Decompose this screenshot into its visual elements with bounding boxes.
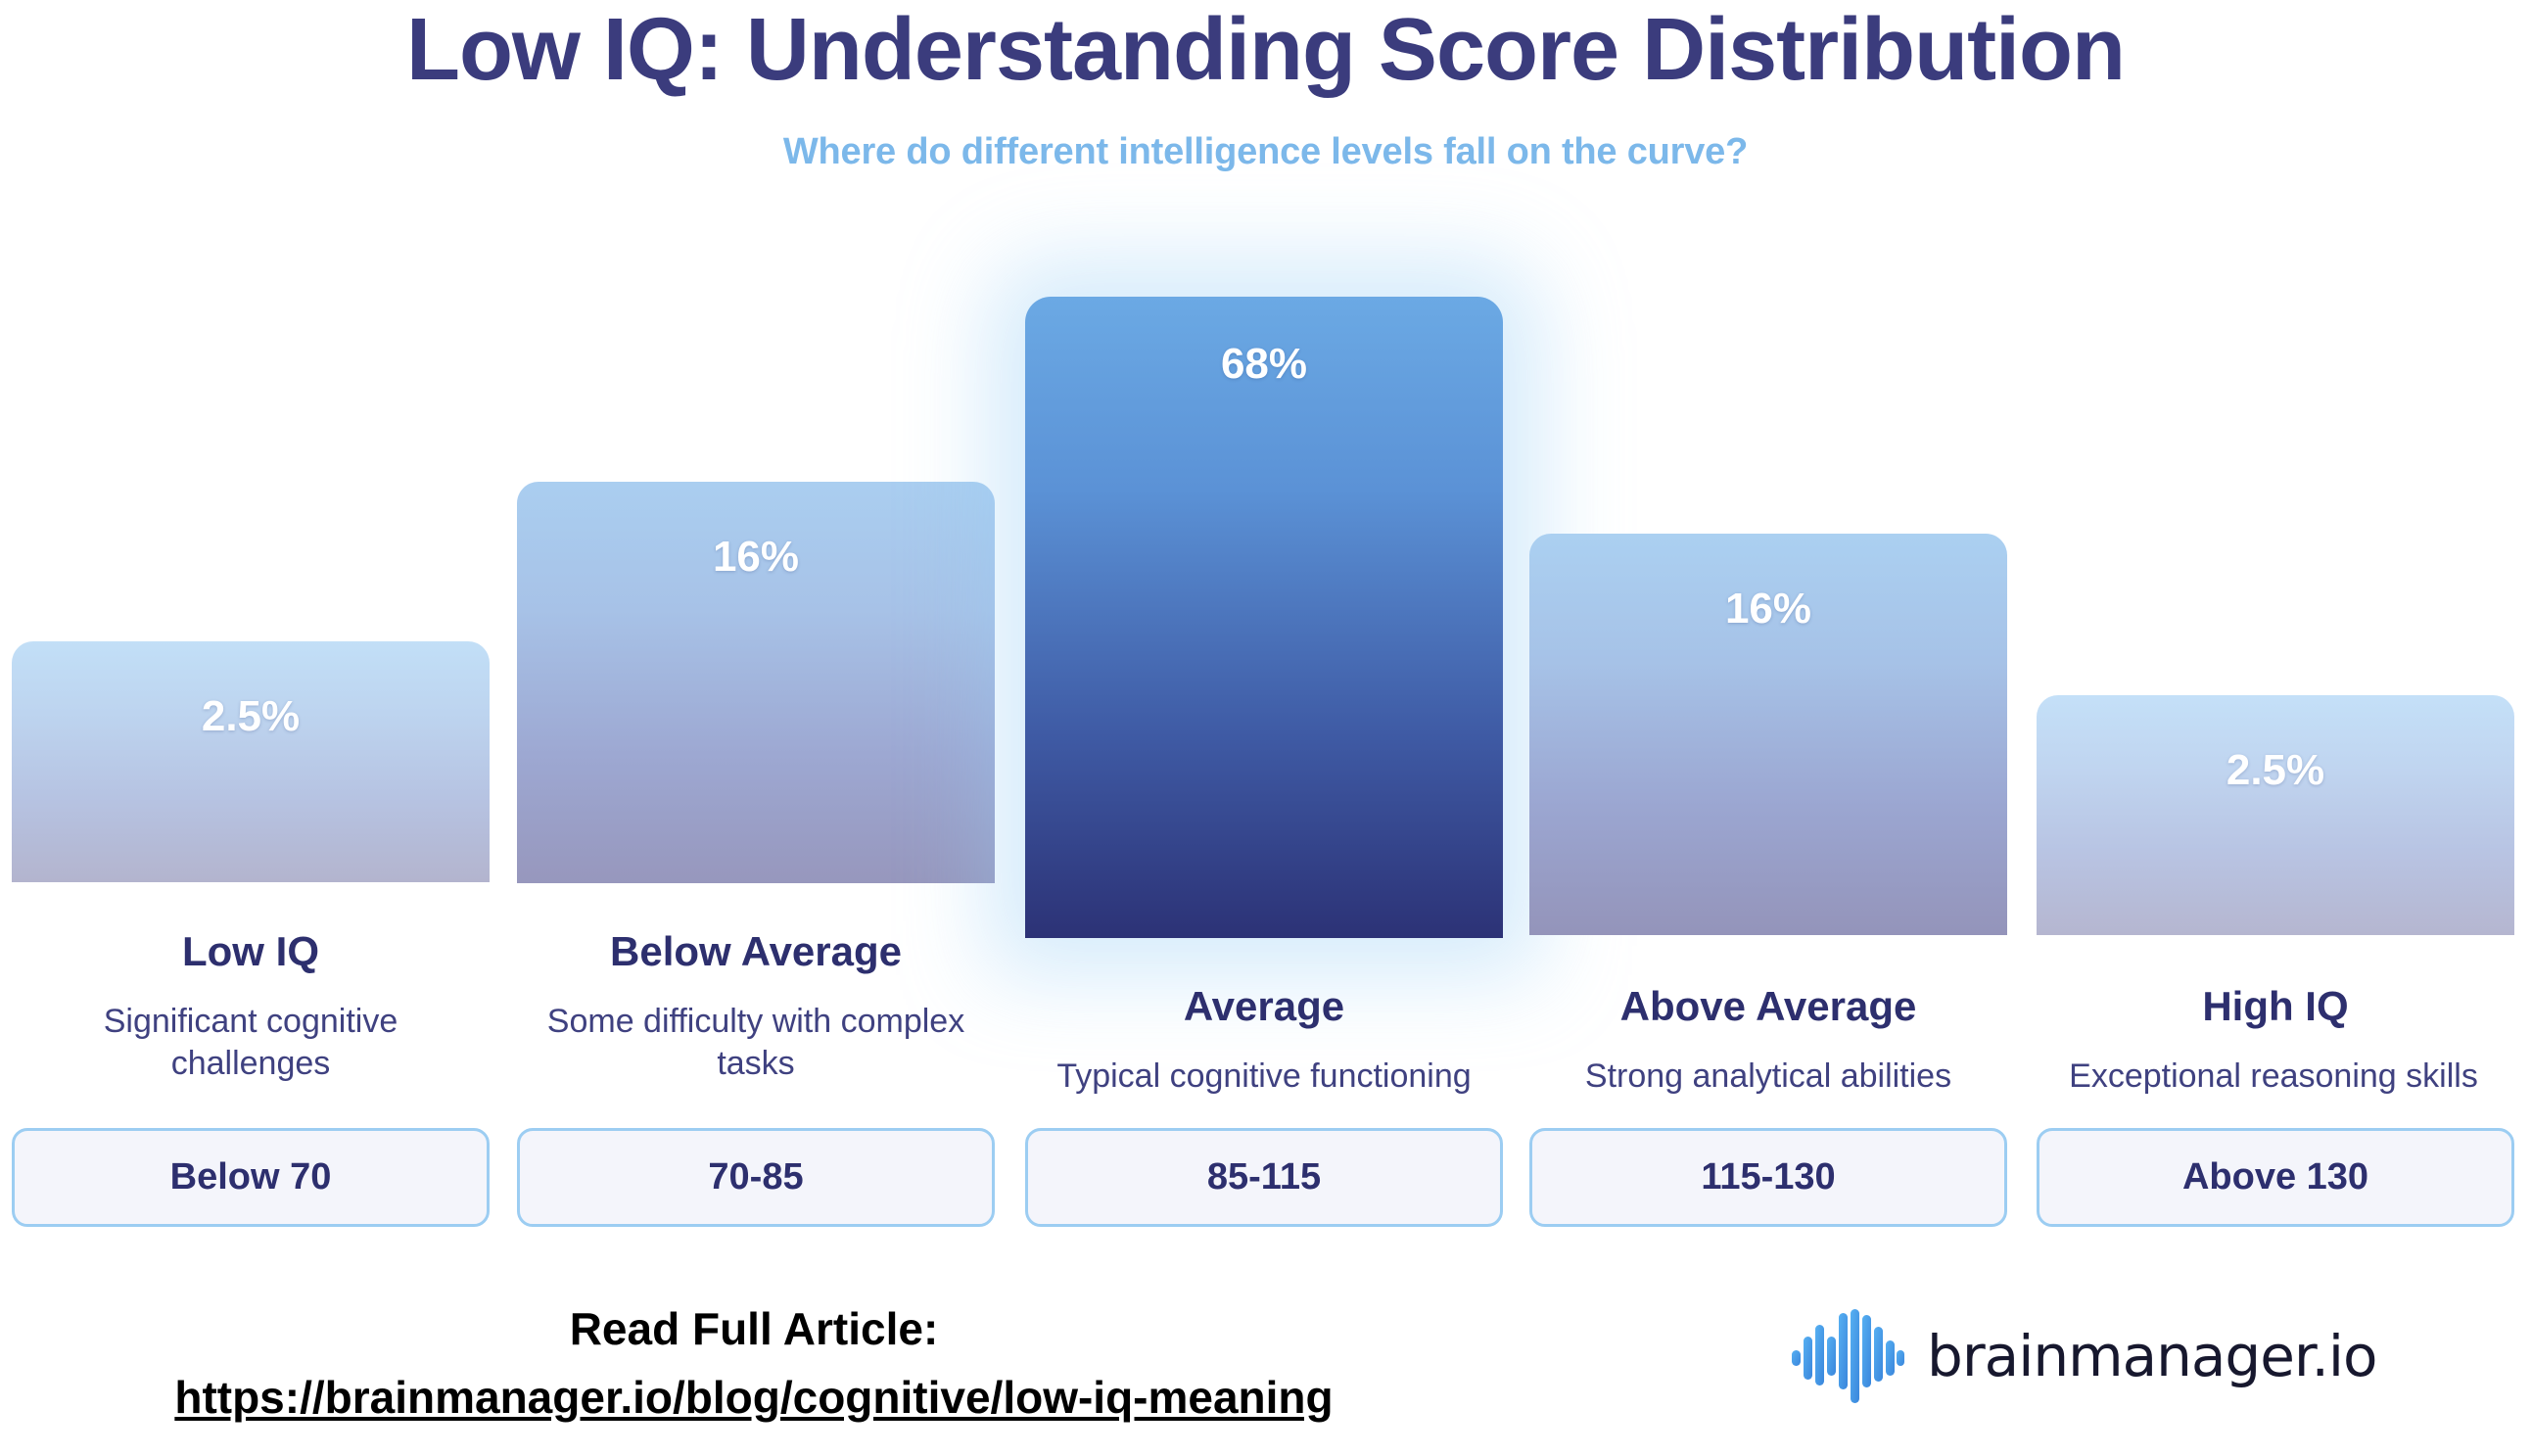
range-pill-above-average[interactable]: 115-130 <box>1529 1128 2007 1227</box>
category-desc-low-iq: Significant cognitive challenges <box>51 1001 450 1085</box>
article-url-link[interactable]: https://brainmanager.io/blog/cognitive/l… <box>0 1371 1508 1424</box>
category-title-above-average: Above Average <box>1529 983 2007 1030</box>
bar-value-high-iq: 2.5% <box>2037 746 2514 795</box>
bar-value-above-average: 16% <box>1529 585 2007 634</box>
bar-below-average: 16% <box>517 482 995 883</box>
category-title-average: Average <box>1025 983 1503 1030</box>
range-pill-below-average[interactable]: 70-85 <box>517 1128 995 1227</box>
bar-value-below-average: 16% <box>517 533 995 582</box>
bar-high-iq: 2.5% <box>2037 695 2514 935</box>
category-title-below-average: Below Average <box>517 928 995 975</box>
bar-value-low-iq: 2.5% <box>12 692 490 741</box>
category-desc-below-average: Some difficulty with complex tasks <box>517 1001 995 1085</box>
range-pill-average[interactable]: 85-115 <box>1025 1128 1503 1227</box>
brainmanager-logo: brainmanager.io <box>1790 1307 2376 1405</box>
range-pill-low-iq[interactable]: Below 70 <box>12 1128 490 1227</box>
category-desc-high-iq: Exceptional reasoning skills <box>2019 1056 2528 1098</box>
brain-waveform-icon <box>1790 1307 1905 1405</box>
bar-average: 68% <box>1025 297 1503 938</box>
bar-low-iq: 2.5% <box>12 641 490 882</box>
infographic-root: Low IQ: Understanding Score Distribution… <box>0 0 2531 1456</box>
read-article-label: Read Full Article: <box>0 1302 1508 1355</box>
category-desc-above-average: Strong analytical abilities <box>1520 1056 2017 1098</box>
bar-value-average: 68% <box>1025 340 1503 389</box>
category-desc-average: Typical cognitive functioning <box>1010 1056 1518 1098</box>
category-title-high-iq: High IQ <box>2037 983 2514 1030</box>
category-title-low-iq: Low IQ <box>12 928 490 975</box>
range-pill-high-iq[interactable]: Above 130 <box>2037 1128 2514 1227</box>
bar-above-average: 16% <box>1529 534 2007 935</box>
logo-text: brainmanager.io <box>1927 1323 2376 1389</box>
bar-chart: 2.5% Low IQ Significant cognitive challe… <box>0 0 2531 1263</box>
